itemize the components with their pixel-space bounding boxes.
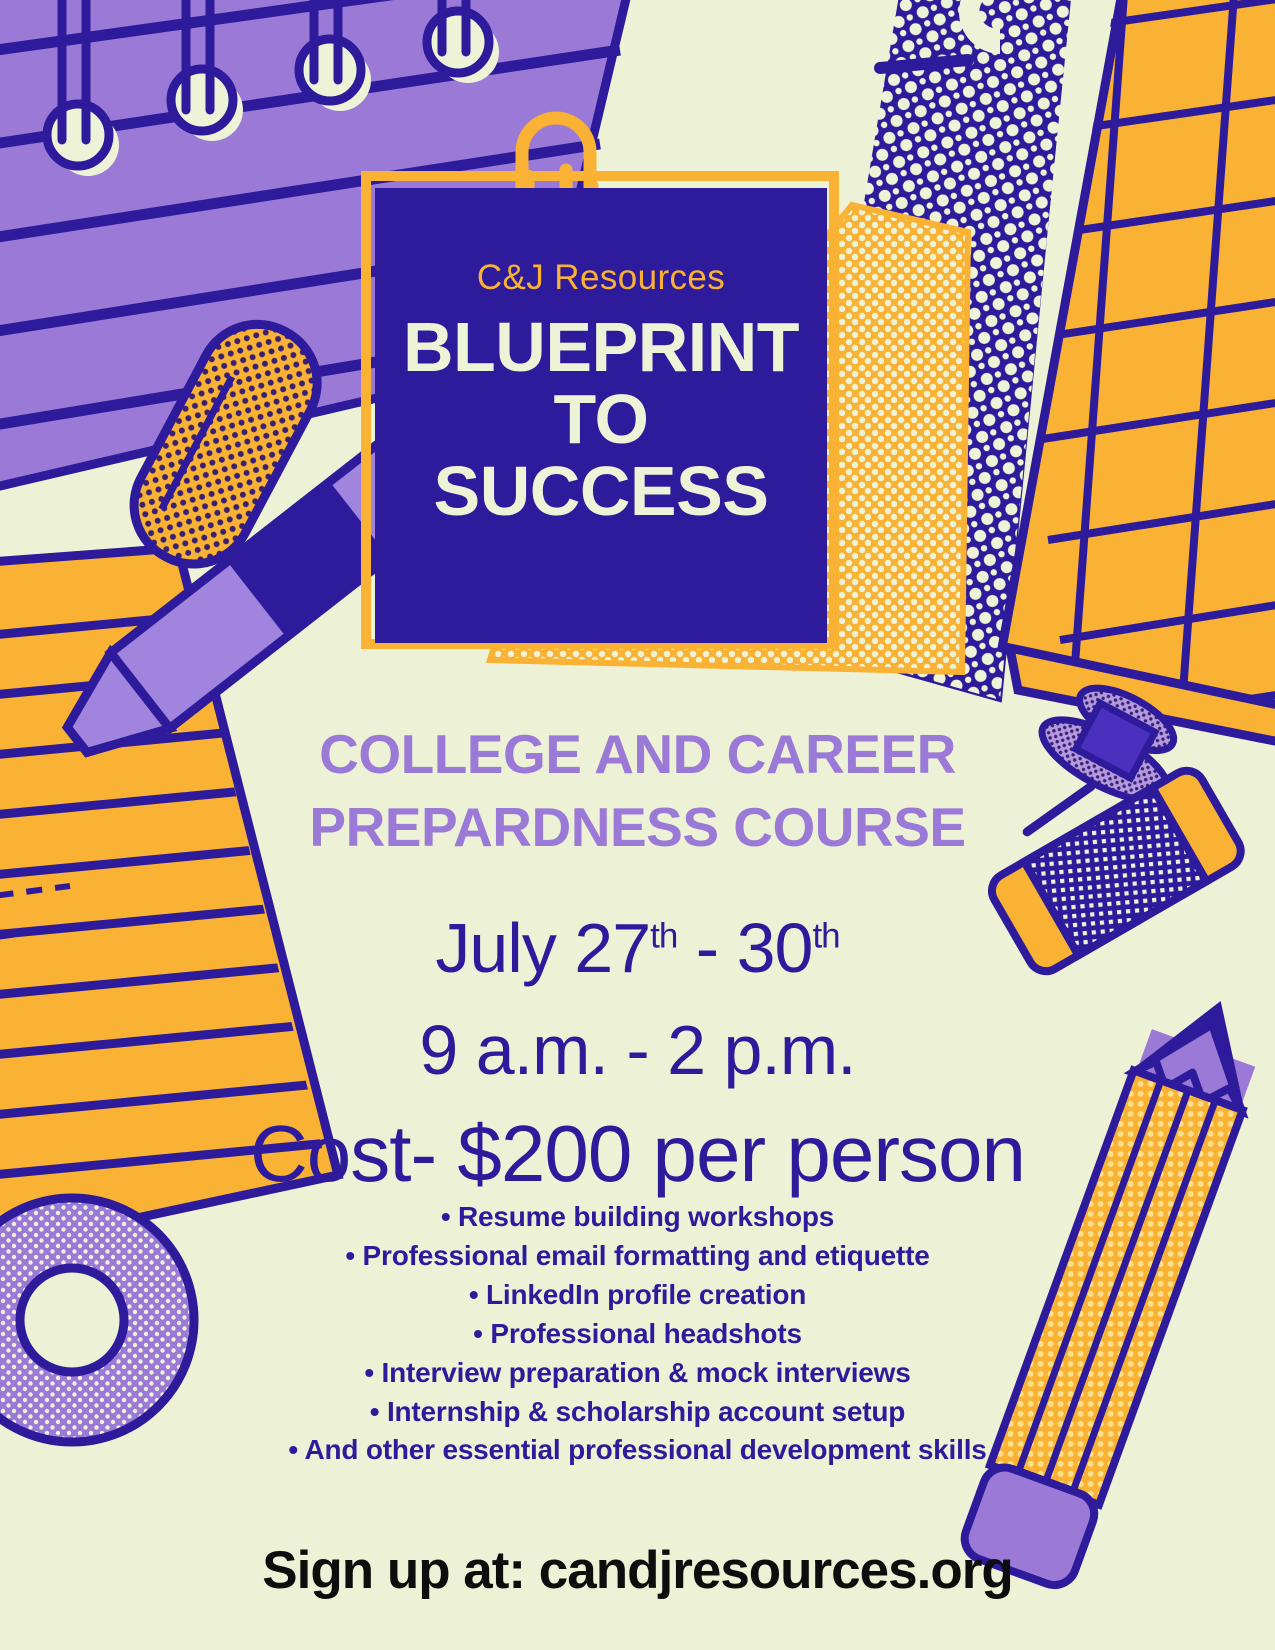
- event-cost: Cost- $200 per person: [0, 1108, 1275, 1200]
- title-line-2: TO: [403, 383, 799, 455]
- poster-subtitle: COLLEGE AND CAREER PREPARDNESS COURSE: [0, 718, 1275, 864]
- feature-list: • Resume building workshops • Profession…: [0, 1198, 1275, 1470]
- list-item: • Internship & scholarship account setup: [0, 1393, 1275, 1432]
- poster-title: BLUEPRINT TO SUCCESS: [403, 311, 799, 527]
- dates-prefix: July 27: [435, 909, 650, 987]
- brand-name: C&J Resources: [477, 260, 725, 295]
- signup-call-to-action: Sign up at: candjresources.org: [0, 1540, 1275, 1601]
- event-time: 9 a.m. - 2 p.m.: [0, 1010, 1275, 1090]
- subtitle-line-2: PREPARDNESS COURSE: [0, 791, 1275, 864]
- dates-middle: - 30: [677, 909, 812, 987]
- list-item: • LinkedIn profile creation: [0, 1276, 1275, 1315]
- list-item: • Interview preparation & mock interview…: [0, 1354, 1275, 1393]
- list-item: • Professional email formatting and etiq…: [0, 1237, 1275, 1276]
- dates-sup-2: th: [812, 917, 839, 956]
- event-dates: July 27th - 30th: [0, 908, 1275, 988]
- dates-sup-1: th: [650, 917, 677, 956]
- title-line-1: BLUEPRINT: [403, 311, 799, 383]
- subtitle-line-1: COLLEGE AND CAREER: [0, 718, 1275, 791]
- list-item: • Resume building workshops: [0, 1198, 1275, 1237]
- title-line-3: SUCCESS: [403, 455, 799, 527]
- list-item: • Professional headshots: [0, 1315, 1275, 1354]
- title-card: C&J Resources BLUEPRINT TO SUCCESS: [375, 188, 827, 643]
- poster-canvas: C&J Resources BLUEPRINT TO SUCCESS COLLE…: [0, 0, 1275, 1650]
- list-item: • And other essential professional devel…: [0, 1431, 1275, 1470]
